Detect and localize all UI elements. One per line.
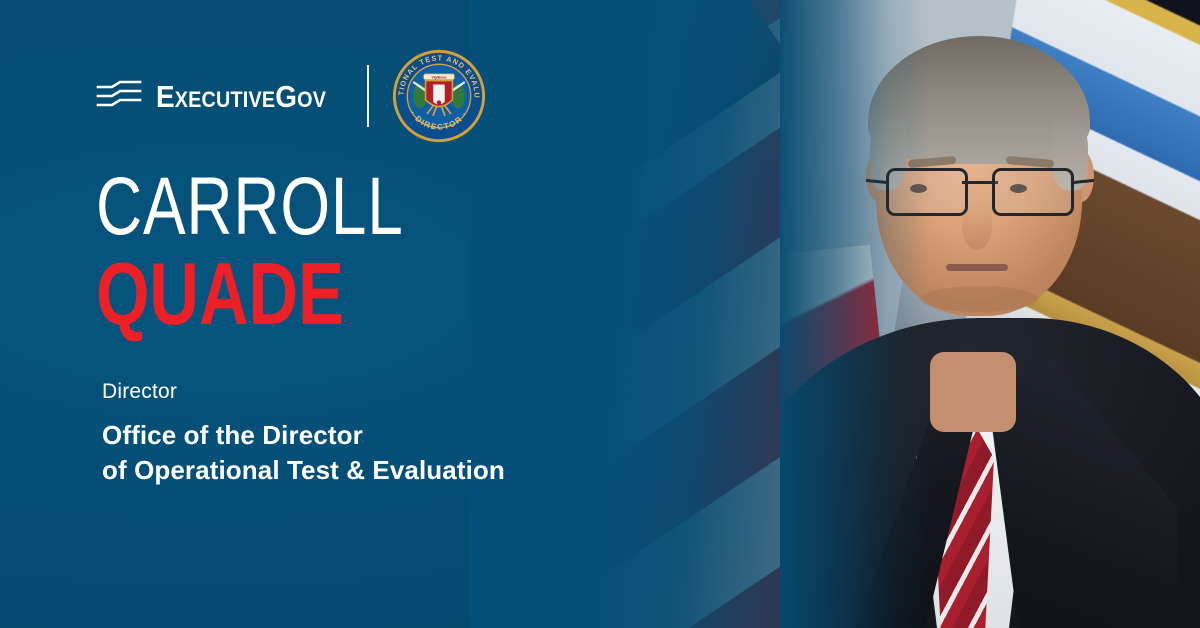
portrait-mouth: [946, 264, 1008, 271]
executivegov-leader-card: ★ ★ ★: [0, 0, 1200, 628]
header-divider: [367, 65, 369, 127]
person-role: Director: [102, 380, 505, 404]
organization-line-2: of Operational Test & Evaluation: [102, 453, 505, 487]
person-last-name: QUADE: [96, 252, 415, 336]
card-header: ExecutiveGov OPERATIONAL TEST AND EVALUA…: [96, 48, 487, 144]
portrait-left-blend: [780, 0, 930, 628]
organization-line-1: Office of the Director: [102, 418, 505, 452]
eyeglass-lens-right: [992, 168, 1074, 216]
executivegov-logo[interactable]: ExecutiveGov: [96, 78, 345, 114]
dote-seal-icon[interactable]: OPERATIONAL TEST AND EVALUATION · DIRECT…: [391, 48, 487, 144]
brand-wordmark: ExecutiveGov: [156, 81, 326, 112]
portrait-chin-shadow: [920, 286, 1038, 312]
wave-lines-icon: [96, 78, 144, 114]
svg-text:Vigilance: Vigilance: [431, 75, 446, 79]
portrait-neck: [930, 352, 1016, 432]
portrait-nose: [962, 204, 992, 250]
person-organization: Office of the Director of Operational Te…: [102, 418, 505, 487]
person-details: CARROLL QUADE Director Office of the Dir…: [96, 168, 505, 487]
person-first-name: CARROLL: [96, 168, 415, 246]
portrait-photo: [780, 0, 1200, 628]
